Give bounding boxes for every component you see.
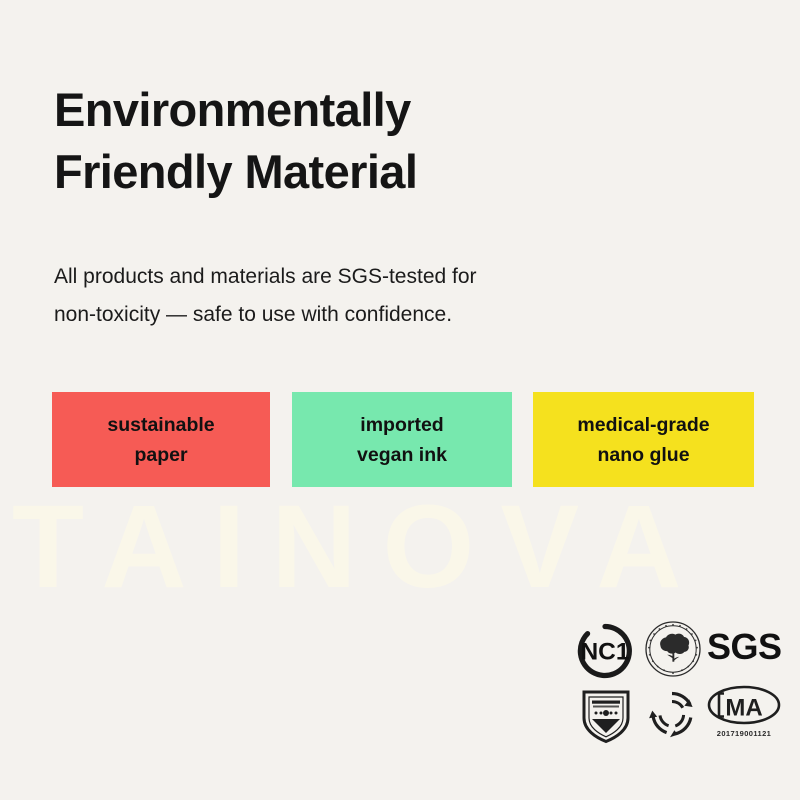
page-subtitle-line-1: All products and materials are SGS-teste… <box>54 258 694 296</box>
shield-certification-icon <box>580 686 632 744</box>
tree-seal-certification-icon <box>644 620 702 678</box>
page-title-line-2: Friendly Material <box>54 141 734 203</box>
svg-text:SGS: SGS <box>707 626 782 667</box>
chip-label-line-1: imported <box>360 410 443 440</box>
chip-label-line-1: medical-grade <box>577 410 709 440</box>
chip-label-line-2: vegan ink <box>357 440 447 470</box>
page-subtitle-line-2: non-toxicity — safe to use with confiden… <box>54 296 694 334</box>
brand-watermark: TAINOVA <box>12 487 788 607</box>
cma-certification-icon: MA 201719001121 <box>706 684 782 738</box>
chip-label-line-2: paper <box>134 440 187 470</box>
chip-label-line-2: nano glue <box>597 440 689 470</box>
certification-logo-grid: NC1 <box>576 620 782 746</box>
recycle-certification-icon <box>644 686 700 742</box>
chip-sustainable-paper: sustainable paper <box>52 392 270 487</box>
cma-certificate-number: 201719001121 <box>706 729 782 738</box>
svg-text:MA: MA <box>725 695 762 722</box>
nc1-certification-icon: NC1 <box>576 622 634 680</box>
sgs-certification-icon: SGS <box>706 626 782 668</box>
page-title: Environmentally Friendly Material <box>54 79 734 203</box>
promo-page: TAINOVA Environmentally Friendly Materia… <box>0 0 800 800</box>
svg-text:NC1: NC1 <box>580 639 629 666</box>
chip-label-line-1: sustainable <box>107 410 214 440</box>
chip-medical-grade-nano-glue: medical-grade nano glue <box>533 392 754 487</box>
material-chip-list: sustainable paper imported vegan ink med… <box>52 392 754 487</box>
page-subtitle: All products and materials are SGS-teste… <box>54 258 694 334</box>
chip-imported-vegan-ink: imported vegan ink <box>292 392 512 487</box>
page-title-line-1: Environmentally <box>54 79 734 141</box>
